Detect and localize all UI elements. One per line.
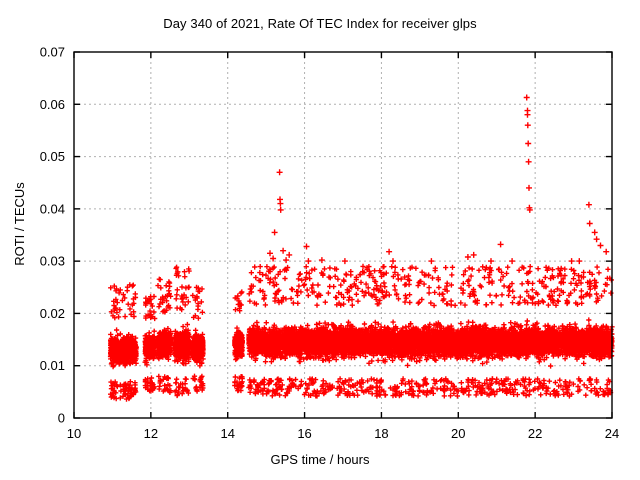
plot-frame — [74, 52, 612, 418]
svg-text:16: 16 — [297, 426, 311, 441]
svg-text:18: 18 — [374, 426, 388, 441]
svg-text:0: 0 — [58, 411, 65, 426]
svg-text:0.04: 0.04 — [40, 201, 65, 216]
svg-text:0.03: 0.03 — [40, 254, 65, 269]
svg-text:10: 10 — [67, 426, 81, 441]
svg-text:0.05: 0.05 — [40, 149, 65, 164]
svg-text:20: 20 — [451, 426, 465, 441]
svg-text:14: 14 — [220, 426, 234, 441]
svg-text:0.02: 0.02 — [40, 306, 65, 321]
chart-root: Day 340 of 2021, Rate Of TEC Index for r… — [0, 0, 640, 480]
svg-text:0.06: 0.06 — [40, 97, 65, 112]
svg-text:0.07: 0.07 — [40, 45, 65, 60]
y-axis-label-wrapper: ROTI / TECUs — [11, 134, 29, 314]
gridlines — [74, 52, 612, 418]
x-axis-label: GPS time / hours — [0, 452, 640, 467]
data-points-layer — [108, 95, 615, 402]
svg-text:24: 24 — [605, 426, 619, 441]
svg-text:22: 22 — [528, 426, 542, 441]
scatter-plot: 00.010.020.030.040.050.060.0710121416182… — [0, 0, 640, 480]
svg-text:12: 12 — [144, 426, 158, 441]
svg-text:0.01: 0.01 — [40, 358, 65, 373]
y-axis-label: ROTI / TECUs — [12, 182, 27, 266]
tick-marks — [74, 52, 612, 418]
